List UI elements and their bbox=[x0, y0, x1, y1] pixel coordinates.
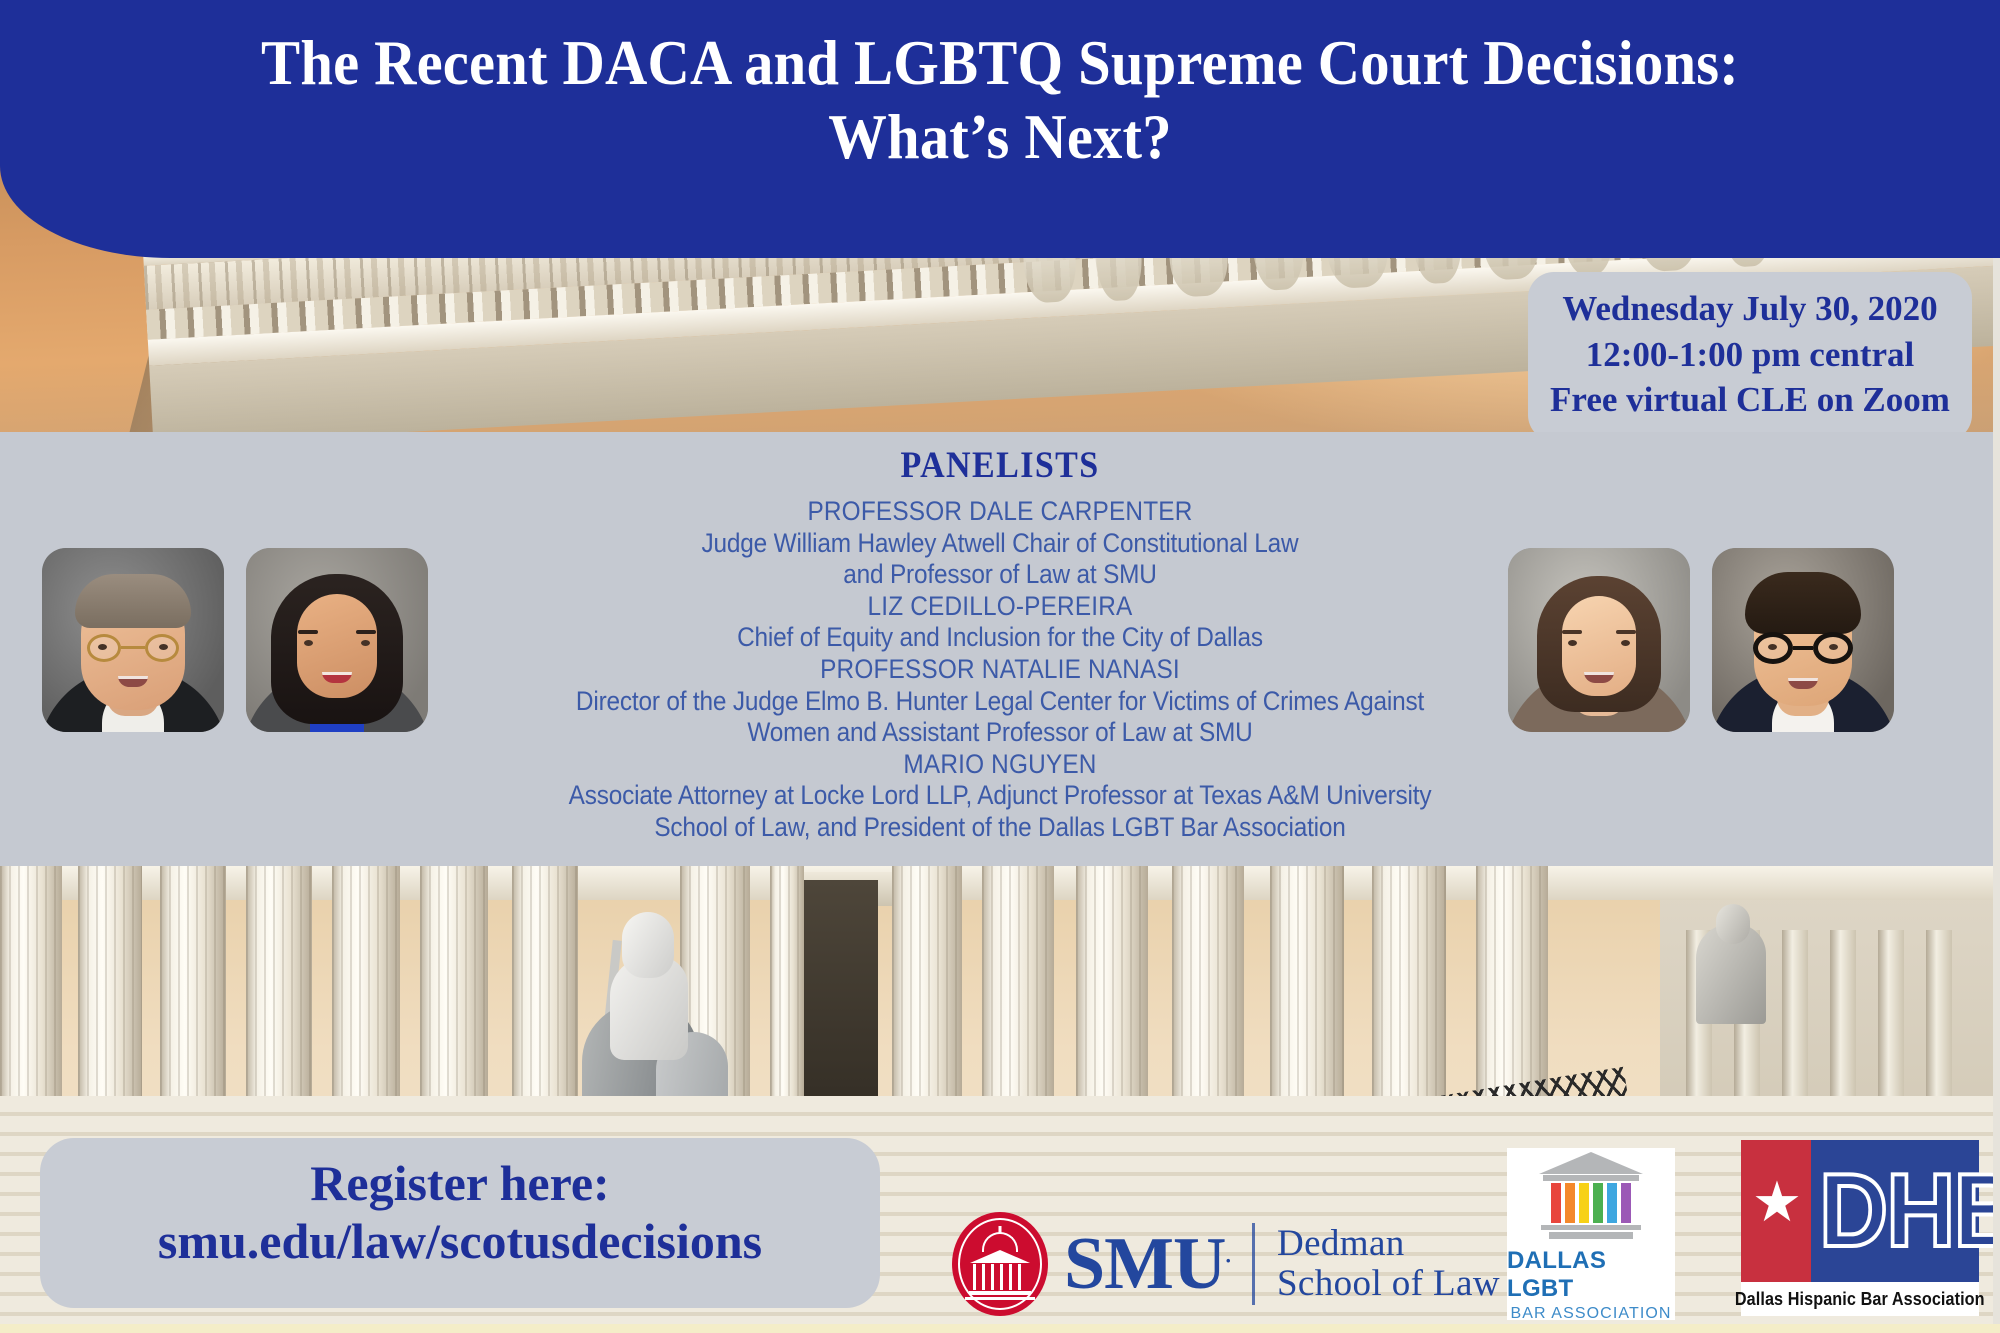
dallas-hispanic-bar-association-logo: ★ DHBA Dallas Hispanic Bar Association bbox=[1741, 1140, 1979, 1326]
smu-divider-rule bbox=[1252, 1223, 1255, 1305]
register-label: Register here: bbox=[40, 1154, 880, 1212]
dhba-name-strip: Dallas Hispanic Bar Association bbox=[1741, 1282, 1979, 1316]
star-icon: ★ bbox=[1751, 1176, 1803, 1228]
smu-wordmark: SMU. bbox=[1064, 1227, 1230, 1301]
dallas-hall-rotunda-icon bbox=[952, 1212, 1048, 1316]
panelists-panel: PANELISTS PROFESSOR DALE CARPENTER Judge… bbox=[0, 432, 2000, 866]
lgbt-logo-line-1: DALLAS LGBT bbox=[1507, 1247, 1675, 1303]
title-block: The Recent DACA and LGBTQ Supreme Court … bbox=[0, 26, 2000, 175]
lgbt-logo-line-2: BAR ASSOCIATION bbox=[1510, 1305, 1671, 1323]
event-format: Free virtual CLE on Zoom bbox=[1550, 377, 1950, 423]
panelist-title: School of Law, and President of the Dall… bbox=[80, 812, 1920, 844]
dallas-lgbt-bar-association-logo: DALLAS LGBT BAR ASSOCIATION bbox=[1507, 1148, 1675, 1320]
register-url[interactable]: smu.edu/law/scotusdecisions bbox=[40, 1212, 880, 1270]
smu-sublabel-line-2: School of Law bbox=[1277, 1264, 1500, 1304]
smu-dedman-school-of-law-logo: SMU. Dedman School of Law bbox=[952, 1212, 1500, 1316]
dhba-full-name: Dallas Hispanic Bar Association bbox=[1735, 1289, 1985, 1310]
event-flyer: The Recent DACA and LGBTQ Supreme Court … bbox=[0, 0, 2000, 1333]
panelist-name: PROFESSOR DALE CARPENTER bbox=[80, 496, 1920, 528]
page-title-line-1: The Recent DACA and LGBTQ Supreme Court … bbox=[135, 26, 1865, 100]
smu-letters: SMU bbox=[1064, 1223, 1225, 1305]
headshot-natalie-nanasi bbox=[1508, 548, 1690, 732]
panelist-title: Associate Attorney at Locke Lord LLP, Ad… bbox=[80, 780, 1920, 812]
panelists-heading: PANELISTS bbox=[80, 444, 1920, 487]
smu-sublabel-line-1: Dedman bbox=[1277, 1224, 1500, 1264]
event-time: 12:00-1:00 pm central bbox=[1550, 332, 1950, 378]
smu-registered-mark: . bbox=[1225, 1242, 1230, 1267]
rainbow-courthouse-icon bbox=[1539, 1152, 1643, 1239]
headshot-liz-cedillo-pereira bbox=[246, 548, 428, 732]
headshot-dale-carpenter bbox=[42, 548, 224, 732]
page-title-line-2: What’s Next? bbox=[135, 100, 1865, 174]
panelist-name: MARIO NGUYEN bbox=[80, 749, 1920, 781]
bottom-edge-accent bbox=[0, 1324, 2000, 1333]
event-details-card: Wednesday July 30, 2020 12:00-1:00 pm ce… bbox=[1528, 272, 1972, 441]
header-banner: The Recent DACA and LGBTQ Supreme Court … bbox=[0, 0, 2000, 258]
registration-card[interactable]: Register here: smu.edu/law/scotusdecisio… bbox=[40, 1138, 880, 1308]
right-wing-statue bbox=[1676, 900, 1796, 1030]
event-date: Wednesday July 30, 2020 bbox=[1550, 286, 1950, 332]
headshot-mario-nguyen bbox=[1712, 548, 1894, 732]
right-edge-accent bbox=[1993, 258, 2000, 1324]
smu-sublabel: Dedman School of Law bbox=[1277, 1224, 1500, 1304]
dhba-acronym: DHBA bbox=[1819, 1148, 1964, 1276]
